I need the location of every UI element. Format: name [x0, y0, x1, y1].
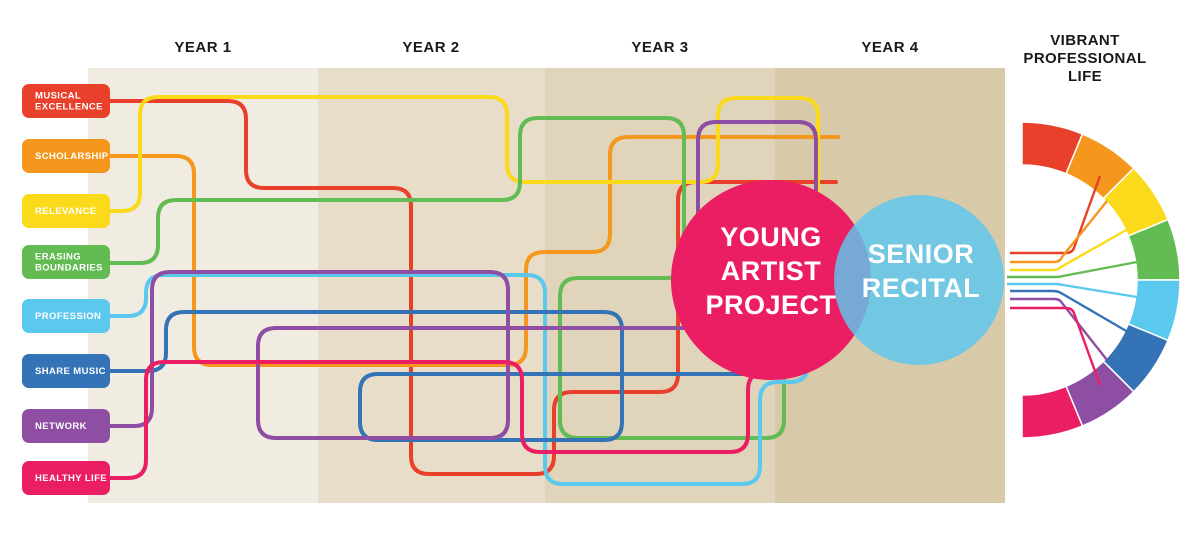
- year-labels-group: YEAR 1YEAR 2YEAR 3YEAR 4: [174, 39, 918, 56]
- pillar-node-network[interactable]: NETWORK: [22, 409, 110, 443]
- pillar-node-scholarship[interactable]: SCHOLARSHIP: [22, 139, 110, 173]
- pillar-label-share-music: SHARE MUSIC: [35, 366, 106, 377]
- spoke-healthy-life: [1010, 308, 1100, 385]
- pillar-label-profession: PROFESSION: [35, 311, 101, 322]
- pillar-label-network: NETWORK: [35, 421, 87, 432]
- pillar-node-share-music[interactable]: SHARE MUSIC: [22, 354, 110, 388]
- pillar-node-healthy-life[interactable]: HEALTHY LIFE: [22, 461, 110, 495]
- year-label-year-2: YEAR 2: [402, 39, 459, 56]
- year-label-year-4: YEAR 4: [861, 39, 918, 56]
- year-label-year-3: YEAR 3: [631, 39, 688, 56]
- pathway-diagram: YEAR 1YEAR 2YEAR 3YEAR 4 YOUNGARTISTPROJ…: [0, 0, 1200, 547]
- spoke-musical-excellence: [1010, 176, 1100, 253]
- pillar-node-musical-excellence[interactable]: MUSICALEXCELLENCE: [22, 84, 110, 118]
- infographic-root: YEAR 1YEAR 2YEAR 3YEAR 4 YOUNGARTISTPROJ…: [0, 0, 1200, 547]
- label-young-artist-project: YOUNGARTISTPROJECT: [705, 222, 836, 320]
- pillar-label-relevance: RELEVANCE: [35, 206, 97, 217]
- venn-group: YOUNGARTISTPROJECTSENIORRECITAL: [671, 180, 1004, 380]
- pillar-node-relevance[interactable]: RELEVANCE: [22, 194, 110, 228]
- pillar-node-profession[interactable]: PROFESSION: [22, 299, 110, 333]
- wheel-title: VIBRANTPROFESSIONALLIFE: [1023, 32, 1146, 85]
- wheel-title-group: VIBRANTPROFESSIONALLIFE: [1023, 32, 1146, 85]
- pillar-node-erasing-boundaries[interactable]: ERASINGBOUNDARIES: [22, 245, 110, 279]
- color-wheel-group: [1007, 122, 1180, 438]
- pillar-label-scholarship: SCHOLARSHIP: [35, 151, 109, 162]
- year-label-year-1: YEAR 1: [174, 39, 231, 56]
- pillar-label-healthy-life: HEALTHY LIFE: [35, 473, 107, 484]
